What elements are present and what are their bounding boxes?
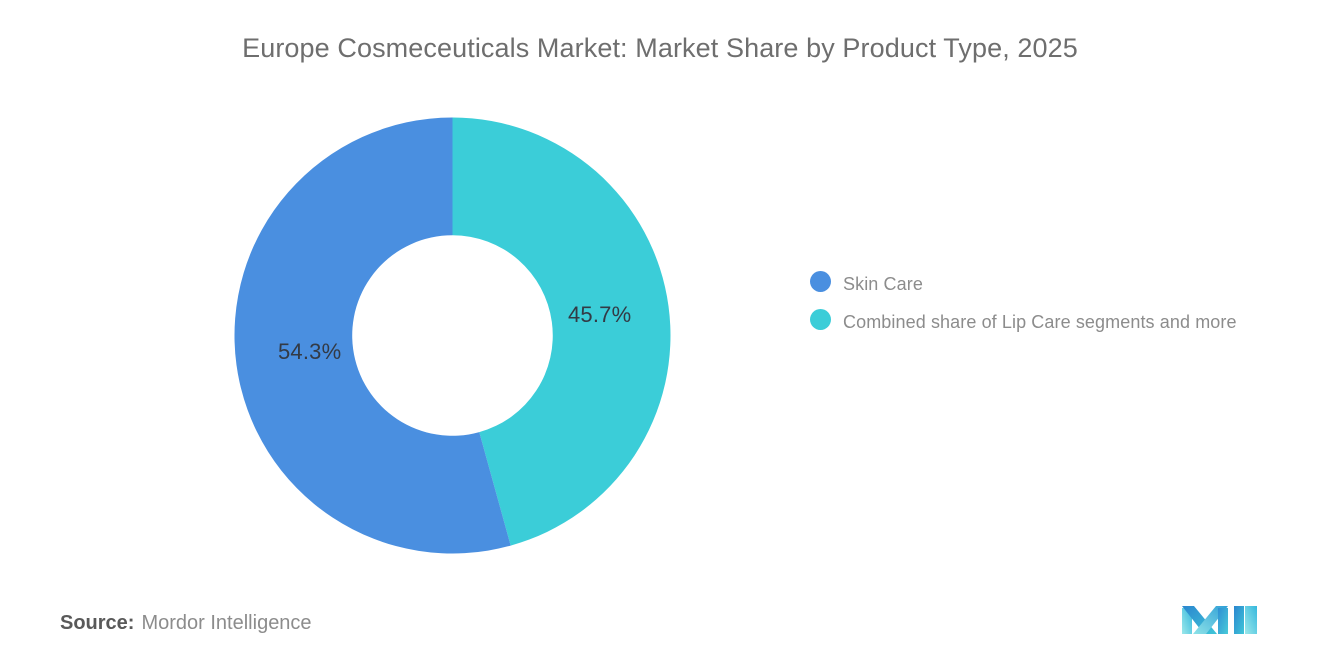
source-line: Source:Mordor Intelligence	[60, 612, 312, 635]
logo-svg	[1181, 596, 1259, 636]
legend-label-skin-care: Skin Care	[843, 270, 923, 299]
slice-label-skin-care: 54.3%	[278, 339, 341, 365]
legend-item-lip-care[interactable]: Combined share of Lip Care segments and …	[810, 308, 1288, 337]
source-label: Source:	[60, 612, 134, 634]
chart-canvas: Europe Cosmeceuticals Market: Market Sha…	[0, 0, 1320, 665]
legend-item-skin-care[interactable]: Skin Care	[810, 270, 1288, 299]
legend-label-lip-care: Combined share of Lip Care segments and …	[843, 308, 1237, 337]
slice-label-lip-care: 45.7%	[568, 302, 631, 328]
legend-swatch-blue-icon	[810, 271, 831, 292]
donut-chart	[234, 117, 671, 554]
page-title: Europe Cosmeceuticals Market: Market Sha…	[0, 28, 1320, 68]
chart-legend: Skin Care Combined share of Lip Care seg…	[810, 270, 1288, 346]
mordor-intelligence-logo-icon	[1181, 596, 1259, 636]
donut-svg	[234, 117, 671, 554]
source-value: Mordor Intelligence	[141, 612, 311, 634]
legend-swatch-teal-icon	[810, 309, 831, 330]
